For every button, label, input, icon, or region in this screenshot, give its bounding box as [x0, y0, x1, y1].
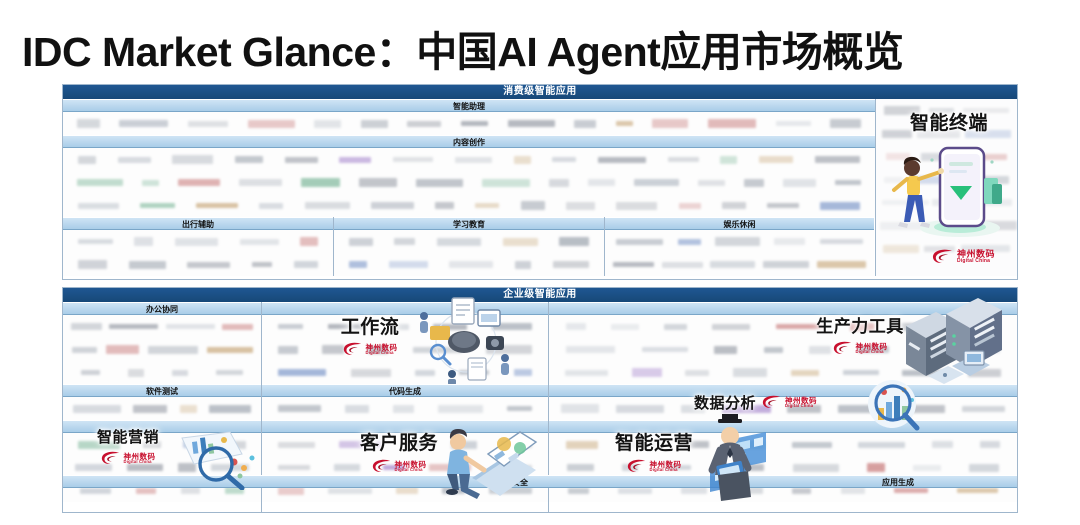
vendor-logo — [962, 176, 1009, 184]
logo-row-side-2 — [876, 122, 1017, 145]
vendor-logo — [442, 487, 465, 494]
vendor-logo — [396, 487, 418, 494]
column-education: 学习教育 — [333, 217, 604, 276]
vendor-logo — [416, 179, 463, 187]
logo-row-ent-r3 — [549, 361, 1017, 384]
logo-row-education-2 — [334, 253, 604, 276]
vendor-logo — [882, 200, 929, 205]
band-ent-right-blank-2 — [549, 384, 1017, 397]
vendor-logo — [922, 223, 969, 229]
vendor-logo — [882, 130, 912, 138]
vendor-logo — [634, 179, 679, 186]
vendor-logo — [625, 441, 657, 448]
enterprise-bottom-bands: 安全 应用生成 — [63, 475, 1017, 488]
vendor-logo — [900, 323, 929, 331]
vendor-logo — [553, 261, 589, 268]
vendor-logo — [714, 346, 737, 354]
vendor-logo — [710, 261, 755, 268]
vendor-logo — [681, 405, 705, 413]
logo-row-education-1 — [334, 230, 604, 253]
band-software-testing[interactable]: 软件测试 — [63, 384, 261, 397]
vendor-logo — [622, 464, 638, 471]
vendor-logo — [776, 121, 811, 126]
logo-row-ent-r1 — [549, 315, 1017, 338]
vendor-logo — [429, 464, 471, 471]
band-travel[interactable]: 出行辅助 — [63, 217, 333, 230]
vendor-logo — [783, 179, 816, 187]
vendor-logo — [792, 442, 832, 448]
band-education[interactable]: 学习教育 — [334, 217, 604, 230]
vendor-logo — [415, 370, 435, 376]
vendor-logo — [78, 260, 107, 269]
page-title: IDC Market Glance：中国AI Agent应用市场概览 — [22, 18, 903, 78]
section-consumer: 消费级智能应用 智能助理 内容创作 出行辅助 — [62, 84, 1018, 280]
vendor-logo — [566, 323, 586, 330]
vendor-logo — [482, 179, 530, 187]
band-ent-mid-blank — [262, 302, 548, 315]
vendor-logo — [850, 323, 875, 331]
vendor-logo — [339, 441, 381, 448]
vendor-logo — [598, 157, 646, 163]
vendor-logo — [514, 156, 531, 164]
vendor-logo — [574, 120, 596, 128]
vendor-logo — [349, 261, 367, 268]
vendor-logo — [222, 324, 253, 330]
vendor-logo — [616, 121, 633, 126]
vendor-logo — [559, 237, 589, 246]
band-app-generation[interactable]: 应用生成 — [779, 475, 1017, 488]
logo-row-side-3 — [876, 145, 1017, 168]
vendor-logo — [109, 324, 158, 329]
vendor-logo — [143, 441, 161, 448]
vendor-logo — [183, 441, 200, 448]
vendor-logo — [552, 157, 576, 162]
vendor-logo — [278, 442, 315, 448]
vendor-logo — [969, 221, 1017, 230]
vendor-logo — [175, 238, 218, 246]
vendor-logo — [433, 324, 467, 330]
vendor-logo — [405, 441, 426, 448]
vendor-logo — [437, 238, 481, 246]
vendor-logo — [884, 106, 920, 115]
band-ent-left-blank — [63, 420, 261, 433]
vendor-logo — [259, 203, 283, 209]
vendor-logo — [616, 239, 663, 245]
vendor-logo — [225, 487, 244, 494]
vendor-logo — [737, 487, 763, 494]
vendor-logo — [393, 157, 433, 162]
vendor-logo — [632, 368, 662, 377]
logo-row-assistant — [63, 112, 875, 135]
vendor-logo — [345, 405, 369, 413]
vendor-logo — [815, 156, 860, 163]
vendor-logo — [78, 203, 119, 209]
digital-china-logo-smart-terminal: 神州数码 Digital China — [932, 249, 995, 265]
vendor-logo — [698, 180, 725, 186]
vendor-logo — [759, 156, 793, 163]
vendor-logo — [835, 180, 861, 185]
consumer-main-column: 智能助理 内容创作 出行辅助 学习教育 — [63, 99, 875, 276]
vendor-logo — [616, 405, 664, 413]
vendor-logo — [776, 324, 825, 329]
vendor-logo — [568, 488, 589, 494]
vendor-logo — [407, 121, 441, 127]
vendor-logo — [294, 261, 318, 268]
vendor-logo — [666, 465, 691, 470]
vendor-logo — [252, 262, 272, 267]
vendor-logo — [455, 157, 492, 163]
band-content-creation[interactable]: 内容创作 — [63, 135, 875, 148]
vendor-logo — [75, 464, 112, 471]
vendor-logo — [390, 324, 409, 330]
vendor-logo — [817, 261, 866, 268]
vendor-logo — [664, 324, 687, 330]
vendor-logo — [301, 178, 340, 187]
vendor-logo — [722, 202, 746, 209]
vendor-logo — [515, 261, 531, 269]
vendor-logo — [613, 262, 654, 267]
vendor-logo — [435, 202, 454, 209]
vendor-logo — [305, 202, 350, 209]
vendor-logo — [616, 202, 657, 210]
vendor-logo — [81, 370, 100, 375]
vendor-logo — [880, 222, 922, 230]
vendor-logo — [475, 203, 499, 208]
logo-row-ent-r2 — [549, 338, 1017, 361]
vendor-logo — [133, 405, 167, 413]
vendor-logo — [932, 441, 953, 448]
vendor-logo — [248, 120, 295, 128]
vendor-logo — [883, 245, 919, 253]
market-glance-board: 消费级智能应用 智能助理 内容创作 出行辅助 — [62, 84, 1018, 514]
consumer-subcategory-columns: 出行辅助 学习教育 娱乐休闲 — [63, 217, 875, 276]
vendor-logo — [720, 156, 737, 164]
vendor-logo — [349, 238, 373, 246]
vendor-logo — [841, 487, 865, 494]
logo-row-entertainment-2 — [605, 253, 874, 276]
vendor-logo — [240, 239, 279, 245]
logo-row-ent-l4 — [63, 397, 261, 420]
vendor-logo — [78, 441, 120, 449]
vendor-logo — [507, 406, 532, 411]
vendor-logo — [216, 370, 243, 375]
vendor-logo — [733, 368, 767, 377]
vendor-logo — [223, 441, 246, 449]
logo-row-side-1 — [876, 99, 1017, 122]
vendor-logo — [886, 153, 910, 160]
band-security[interactable]: 安全 — [261, 475, 779, 488]
vendor-logo — [495, 465, 532, 470]
vendor-logo — [735, 441, 765, 449]
logo-row-ent-l5 — [63, 433, 261, 456]
vendor-logo — [503, 238, 538, 246]
vendor-logo — [917, 129, 960, 138]
band-bottom-left-blank — [63, 475, 261, 488]
vendor-logo — [549, 179, 569, 187]
vendor-logo — [957, 488, 998, 493]
vendor-logo — [328, 324, 366, 329]
vendor-logo — [838, 405, 879, 413]
vendor-logo — [932, 199, 961, 206]
logo-row-ent-r5 — [549, 433, 1017, 456]
vendor-logo — [71, 323, 102, 330]
vendor-logo — [913, 465, 941, 471]
band-entertainment[interactable]: 娱乐休闲 — [605, 217, 874, 230]
vendor-logo — [278, 405, 321, 412]
column-travel: 出行辅助 — [63, 217, 333, 276]
logo-row-ent-m1 — [262, 315, 548, 338]
vendor-logo — [642, 347, 688, 352]
vendor-logo — [129, 261, 166, 269]
vendor-logo — [965, 130, 1011, 138]
column-entertainment: 娱乐休闲 — [604, 217, 874, 276]
vendor-logo — [78, 239, 113, 244]
vendor-logo — [652, 119, 688, 128]
vendor-logo — [235, 156, 263, 163]
vendor-logo — [508, 120, 555, 127]
vendor-logo — [715, 237, 760, 246]
band-office-collaboration[interactable]: 办公协同 — [63, 302, 261, 315]
vendor-logo — [118, 157, 151, 163]
logo-row-travel-1 — [63, 230, 333, 253]
band-ent-mid-blank-2 — [262, 420, 548, 433]
vendor-logo — [178, 463, 196, 472]
vendor-logo — [722, 405, 771, 413]
logo-row-content-3 — [63, 194, 875, 217]
logo-row-ent-m3 — [262, 361, 548, 384]
vendor-logo — [858, 346, 889, 353]
vendor-logo — [896, 405, 945, 413]
vendor-logo — [211, 464, 249, 471]
consumer-body: 智能助理 内容创作 出行辅助 学习教育 — [63, 99, 1017, 276]
vendor-logo — [383, 465, 405, 470]
vendor-logo — [921, 153, 948, 161]
vendor-logo — [744, 179, 764, 187]
logo-row-entertainment-1 — [605, 230, 874, 253]
section-header-enterprise: 企业级智能应用 — [63, 288, 1017, 302]
logo-row-ent-m4 — [262, 397, 548, 420]
logo-row-ent-m5 — [262, 433, 548, 456]
vendor-logo — [764, 347, 783, 353]
logo-row-ent-l1 — [63, 315, 261, 338]
vendor-logo — [962, 406, 1005, 412]
logo-row-content-2 — [63, 171, 875, 194]
digital-china-wordmark: 神州数码 Digital China — [957, 250, 995, 264]
vendor-logo — [514, 369, 532, 376]
vendor-logo — [339, 157, 371, 163]
logo-row-side-6 — [876, 214, 1017, 237]
vendor-logo — [566, 346, 615, 353]
vendor-logo — [561, 404, 599, 413]
vendor-logo — [207, 347, 253, 353]
vendor-logo — [902, 370, 944, 376]
vendor-logo — [178, 179, 220, 186]
vendor-logo — [566, 441, 598, 449]
vendor-logo — [567, 464, 594, 471]
vendor-logo — [451, 441, 477, 449]
vendor-logo — [791, 370, 819, 376]
vendor-logo — [964, 199, 1012, 206]
vendor-logo — [285, 157, 318, 163]
vendor-logo — [196, 203, 238, 208]
vendor-logo — [809, 346, 831, 354]
vendor-logo — [792, 488, 811, 494]
vendor-logo — [438, 405, 483, 413]
vendor-logo — [685, 370, 709, 376]
vendor-logo — [960, 154, 1007, 160]
vendor-logo — [679, 203, 701, 209]
vendor-logo — [492, 323, 532, 330]
logo-row-ent-l2 — [63, 338, 261, 361]
vendor-logo — [968, 369, 1001, 377]
vendor-logo — [328, 488, 372, 494]
vendor-logo — [77, 179, 123, 186]
vendor-logo — [915, 346, 951, 353]
vendor-logo — [73, 405, 121, 413]
digital-china-mark-icon — [932, 249, 954, 265]
vendor-logo — [774, 238, 805, 245]
vendor-logo — [684, 441, 709, 448]
brand-name-en: Digital China — [957, 259, 995, 264]
vendor-logo — [80, 488, 111, 494]
vendor-logo — [119, 120, 168, 127]
logo-row-side-4 — [876, 168, 1017, 191]
vendor-logo — [188, 121, 228, 127]
vendor-logo — [566, 202, 595, 210]
band-ent-right-blank-3 — [549, 420, 1017, 433]
vendor-logo — [767, 203, 799, 208]
vendor-logo — [588, 179, 615, 186]
vendor-logo — [300, 237, 318, 246]
vendor-logo — [708, 119, 756, 128]
vendor-logo — [140, 203, 175, 208]
vendor-logo — [820, 239, 863, 244]
vendor-logo — [501, 441, 532, 448]
section-header-consumer: 消费级智能应用 — [63, 85, 1017, 99]
vendor-logo — [969, 464, 999, 472]
vendor-logo — [361, 120, 388, 128]
vendor-logo — [978, 346, 1000, 353]
vendor-logo — [136, 488, 156, 494]
band-ent-right-blank — [549, 302, 1017, 315]
vendor-logo — [565, 370, 608, 376]
vendor-logo — [413, 347, 462, 353]
vendor-logo — [867, 463, 885, 472]
vendor-logo — [368, 346, 388, 354]
vendor-logo — [172, 155, 213, 164]
vendor-logo — [278, 324, 303, 329]
vendor-logo — [459, 370, 489, 375]
vendor-logo — [712, 324, 750, 330]
vendor-logo — [929, 108, 954, 113]
vendor-logo — [668, 157, 699, 162]
vendor-logo — [371, 202, 414, 209]
vendor-logo — [910, 176, 955, 184]
vendor-logo — [521, 201, 545, 210]
vendor-logo — [142, 180, 159, 186]
vendor-logo — [78, 156, 96, 164]
vendor-logo — [793, 464, 839, 472]
vendor-logo — [351, 369, 391, 377]
vendor-logo — [843, 370, 879, 375]
band-code-generation[interactable]: 代码生成 — [262, 384, 548, 397]
vendor-logo — [980, 441, 1000, 448]
logo-row-content-1 — [63, 148, 875, 171]
vendor-logo — [180, 405, 197, 413]
vendor-logo — [278, 369, 326, 376]
vendor-logo — [830, 119, 861, 128]
vendor-logo — [618, 488, 652, 494]
vendor-logo — [77, 119, 100, 128]
band-smart-assistant[interactable]: 智能助理 — [63, 99, 875, 112]
vendor-logo — [127, 464, 163, 471]
vendor-logo — [820, 202, 860, 210]
vendor-logo — [148, 346, 198, 354]
logo-row-travel-2 — [63, 253, 333, 276]
vendor-logo — [787, 405, 821, 413]
vendor-logo — [954, 324, 1000, 330]
vendor-logo — [359, 178, 397, 187]
vendor-logo — [278, 465, 310, 470]
vendor-logo — [166, 324, 215, 329]
vendor-logo — [486, 345, 532, 354]
logo-row-ent-m2 — [262, 338, 548, 361]
vendor-logo — [239, 179, 282, 186]
vendor-logo — [314, 120, 341, 128]
vendor-logo — [106, 345, 139, 354]
vendor-logo — [209, 405, 251, 413]
vendor-logo — [128, 369, 144, 377]
vendor-logo — [72, 347, 97, 353]
vendor-logo — [681, 487, 707, 494]
vendor-logo — [461, 121, 488, 126]
vendor-logo — [393, 405, 414, 413]
vendor-logo — [389, 261, 428, 268]
logo-row-side-5 — [876, 191, 1017, 214]
vendor-logo — [172, 370, 188, 376]
vendor-logo — [134, 237, 153, 246]
vendor-logo — [884, 177, 903, 183]
vendor-logo — [611, 324, 639, 330]
vendor-logo — [963, 108, 1009, 113]
vendor-logo — [449, 261, 493, 268]
logo-row-ent-l3 — [63, 361, 261, 384]
vendor-logo — [181, 487, 200, 494]
logo-row-ent-r4 — [549, 397, 1017, 420]
vendor-logo — [278, 346, 298, 354]
vendor-logo — [763, 261, 809, 268]
vendor-logo — [334, 464, 360, 471]
vendor-logo — [187, 262, 230, 268]
vendor-logo — [394, 238, 415, 245]
vendor-logo — [719, 464, 764, 471]
vendor-logo — [322, 345, 344, 354]
vendor-logo — [678, 239, 701, 245]
section-enterprise: 企业级智能应用 办公协同 软件测试 代码生成 — [62, 287, 1018, 513]
vendor-logo — [662, 262, 703, 268]
vendor-logo — [858, 442, 905, 448]
